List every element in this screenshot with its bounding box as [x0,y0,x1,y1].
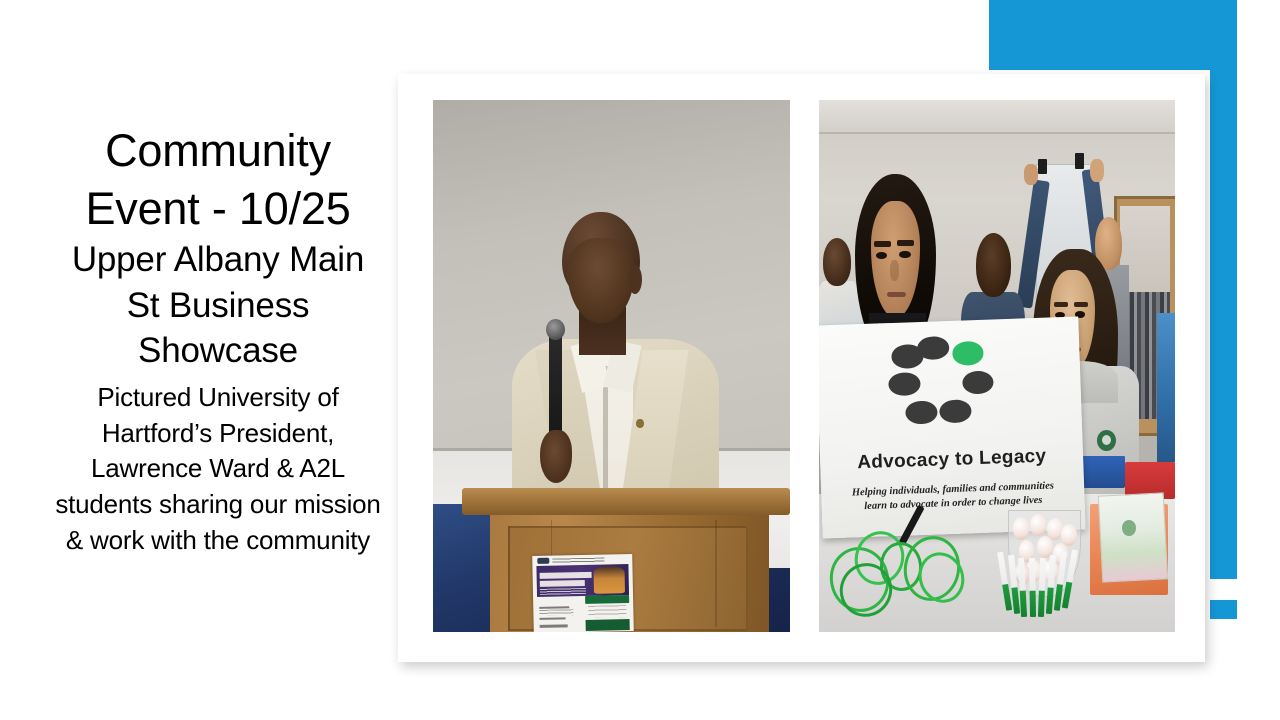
room-wall-trim [819,132,1175,134]
background-man-hand-right [1090,159,1104,183]
poster-contact-badge [585,619,629,631]
student-left-nose [890,260,899,281]
poster-right-column-body [588,605,626,618]
speaker-hand [540,430,572,483]
student-left-eyebrow-right [897,240,913,246]
slide-body-text: Pictured University of Hartford’s Presid… [44,380,392,559]
student-right-eyebrow-right [1074,302,1088,307]
poster-logo-text [552,557,604,563]
mint-candy [1013,517,1029,539]
slide-title-line-1: Community [44,122,392,180]
person-right-edge-jacket [1157,313,1175,462]
student-right-eyebrow-left [1054,302,1068,307]
advocacy-logo [879,331,1014,442]
background-man-hand-left [1024,164,1038,185]
slide-subtitle-line-2: St Business [44,283,392,329]
poster-subtitle [540,588,586,595]
room-ceiling [819,100,1175,132]
slide-title-line-2: Event - 10/25 [44,180,392,238]
poster-title-line-2 [540,579,585,586]
board-clip-right [1075,153,1084,169]
advocacy-to-legacy-sign: Advocacy to Legacy Helping individuals, … [819,316,1086,538]
background-man-1-head [976,233,1012,297]
background-woman-head [823,238,851,286]
logo-dot-green [952,341,984,365]
poster-logo-icon [537,558,549,564]
poster-section-1-body [539,609,573,616]
board-clip-left [1038,159,1047,175]
slide-canvas: Advocacy to Legacy Helping individuals, … [0,0,1280,720]
photo-students-at-table: Advocacy to Legacy Helping individuals, … [819,100,1175,632]
slide-subtitle-line-1: Upper Albany Main [44,237,392,283]
poster-hero-person [593,566,625,594]
slide-subtitle: Upper Albany Main St Business Showcase [44,237,392,374]
photo-speaker-at-podium [433,100,790,632]
speaker-lapel-pin [636,419,643,428]
logo-dot-7 [891,344,923,368]
accent-bar-top [989,0,1237,70]
student-left-eye-right [899,251,910,258]
poster-section-2-heading [539,617,565,620]
blue-item-on-table [1082,456,1125,488]
slide-text-block: Community Event - 10/25 Upper Albany Mai… [44,122,392,559]
trade-show-poster [532,554,634,632]
podium-grain-right [715,520,717,626]
logo-dot-3 [962,370,994,394]
sign-title: Advocacy to Legacy [820,444,1084,475]
poster-date-badge [585,595,629,604]
poster-title-line-1 [539,572,591,579]
brochure-stack [1098,492,1169,582]
logo-dot-5 [905,400,937,424]
slide-subtitle-line-3: Showcase [44,328,392,374]
mint-candy [1030,514,1046,536]
slide-title: Community Event - 10/25 [44,122,392,237]
accent-block-bottom-right [1210,600,1237,619]
logo-dot-6 [888,372,920,396]
logo-dot-4 [939,399,971,423]
student-left-mouth [887,292,907,297]
student-left-eyebrow-left [874,241,890,247]
podium-top [462,488,790,515]
poster-section-3-heading [540,625,568,628]
brochure-logo-badge [1122,520,1136,536]
speaker-ear [628,265,642,294]
accent-bar-right [1210,0,1237,579]
